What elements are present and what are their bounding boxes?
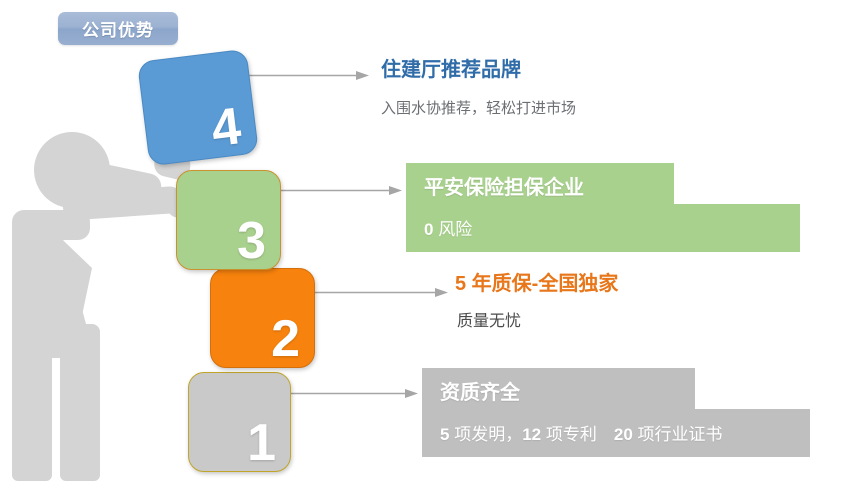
step-block-2[interactable]: 2	[210, 268, 315, 368]
item-text-2: 5 年质保-全国独家 质量无忧	[455, 272, 618, 331]
item-sub-num2-1: 12	[522, 425, 541, 444]
arrow-right-icon-4	[248, 68, 370, 79]
slide-canvas: 公司优势	[0, 0, 844, 481]
item-banner-3: 平安保险担保企业 0 风险	[406, 163, 806, 252]
item-heading-2: 5 年质保-全国独家	[455, 272, 618, 296]
arrow-right-icon-3	[281, 183, 403, 194]
item-sub-num3-1: 20	[614, 425, 633, 444]
item-subtitle-1: 5 项发明，12 项专利 20 项行业证书	[440, 420, 723, 445]
item-banner-1: 资质齐全 5 项发明，12 项专利 20 项行业证书	[422, 368, 814, 457]
item-heading-4: 住建厅推荐品牌	[381, 58, 576, 82]
arrow-right-icon-2	[315, 285, 449, 296]
item-text-4: 住建厅推荐品牌 入围水协推荐，轻松打进市场	[381, 58, 576, 118]
item-sub-txt1-1: 项发明，	[449, 425, 522, 444]
step-block-1[interactable]: 1	[188, 372, 291, 472]
item-sub-rest-3: 风险	[433, 220, 472, 239]
item-subtitle-3: 0 风险	[424, 215, 472, 240]
step-block-4[interactable]: 4	[137, 49, 259, 167]
item-heading-3: 平安保险担保企业	[424, 171, 584, 200]
step-block-3[interactable]: 3	[176, 170, 281, 270]
item-sub-txt2-1: 项专利	[541, 425, 614, 444]
step-number-1: 1	[247, 417, 276, 469]
step-number-2: 2	[271, 313, 300, 365]
item-heading-1: 资质齐全	[440, 376, 520, 405]
page-title-badge: 公司优势	[58, 12, 178, 45]
step-number-3: 3	[237, 215, 266, 267]
step-number-4: 4	[209, 100, 244, 155]
arrow-right-icon-1	[291, 386, 419, 397]
item-sub-txt3-1: 项行业证书	[633, 425, 723, 444]
person-silhouette-icon	[0, 118, 210, 481]
item-subtitle-4: 入围水协推荐，轻松打进市场	[381, 100, 576, 118]
item-subtitle-2: 质量无忧	[457, 312, 618, 331]
page-title: 公司优势	[82, 16, 154, 41]
